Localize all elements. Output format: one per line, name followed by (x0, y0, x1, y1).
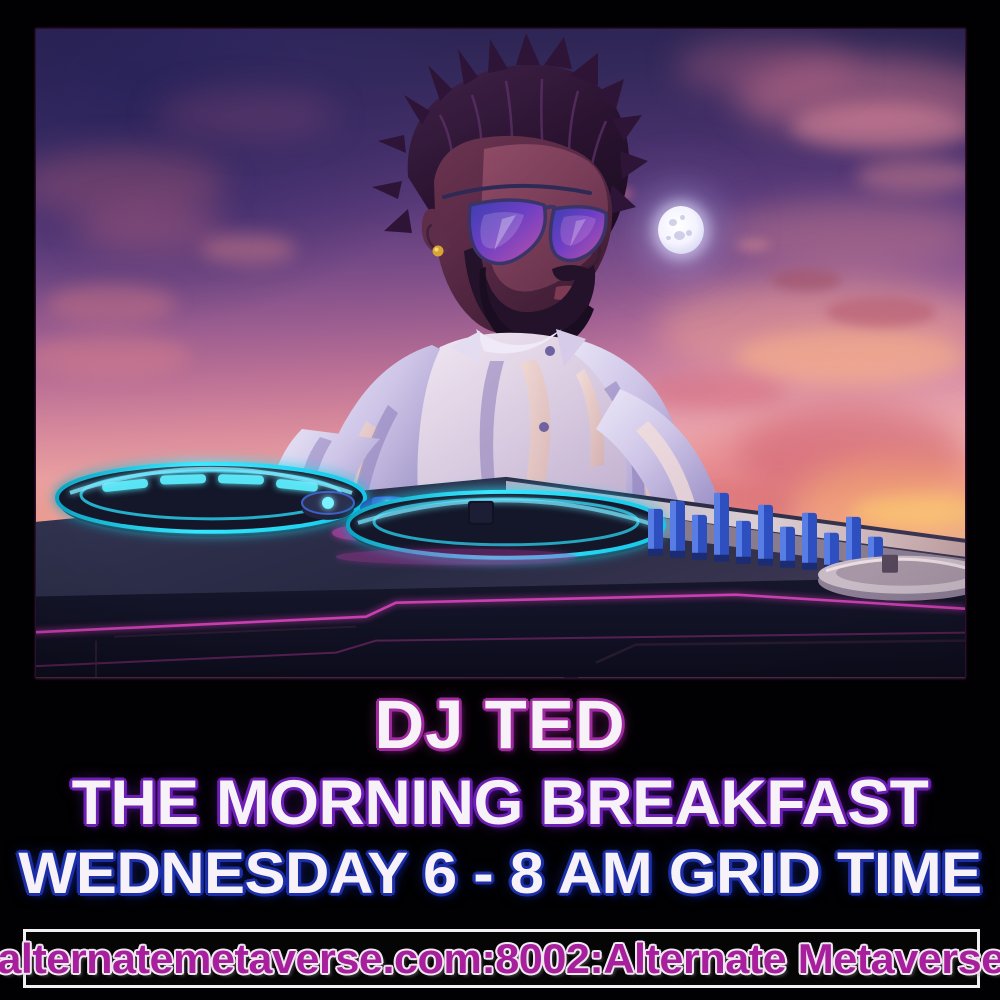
dj-event-poster: DJ TED THE MORNING BREAKFAST WEDNESDAY 6… (0, 0, 1000, 1000)
dj-name-heading: DJ TED (0, 690, 1000, 759)
earring (433, 246, 444, 257)
shirt-button (545, 346, 555, 356)
url-banner[interactable]: alternatemetaverse.com:8002:Alternate Me… (23, 929, 980, 988)
dj-controller (36, 405, 965, 678)
show-name-heading: THE MORNING BREAKFAST (0, 772, 1000, 835)
schedule-heading: WEDNESDAY 6 - 8 AM GRID TIME (0, 845, 1000, 903)
artwork-image (36, 29, 965, 678)
url-banner-text[interactable]: alternatemetaverse.com:8002:Alternate Me… (0, 938, 1000, 980)
